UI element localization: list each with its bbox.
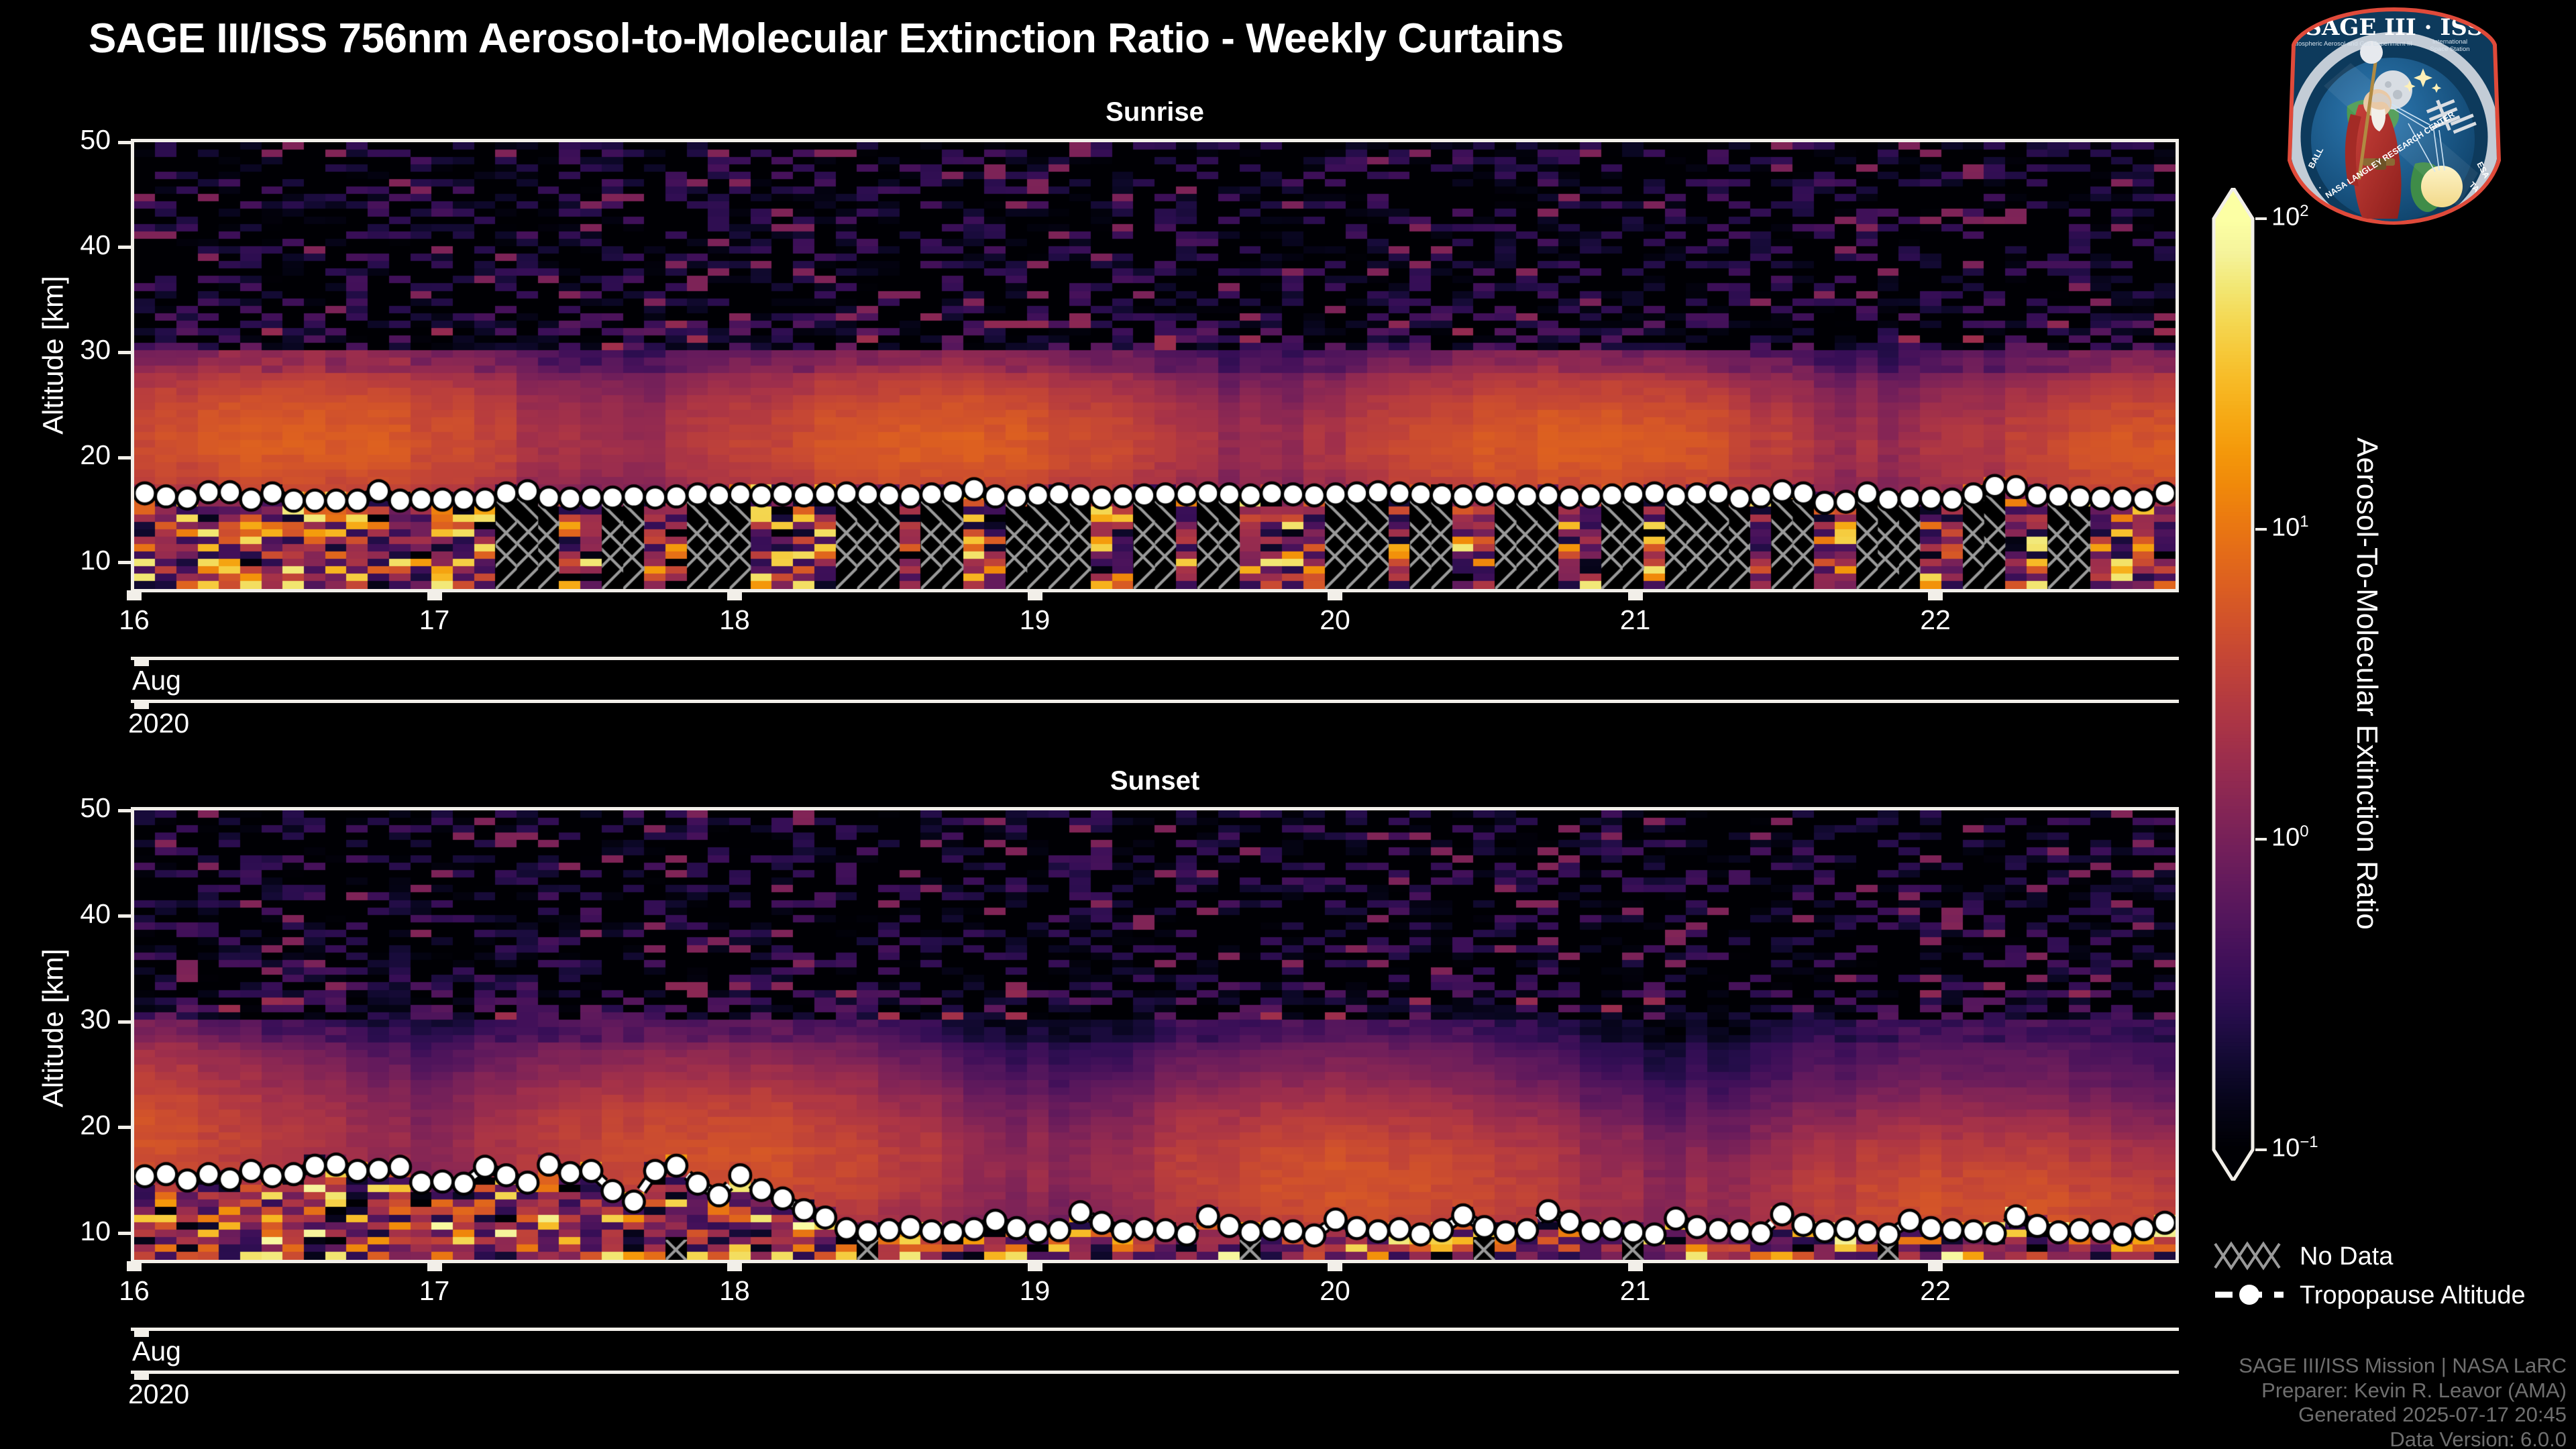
- x-tick-label-sunset-18: 18: [688, 1275, 782, 1307]
- x-tick-mark-sunrise-16: [127, 590, 142, 600]
- dashed-line-circle-icon: [2214, 1279, 2288, 1311]
- y-tick-label-sunrise-10: 10: [23, 545, 111, 576]
- y-tick-mark-sunrise-10: [118, 561, 131, 564]
- colorbar-gradient: [2207, 188, 2288, 1181]
- svg-text:International: International: [2432, 38, 2467, 46]
- panel-title-sunrise: Sunrise: [131, 97, 2179, 127]
- date-level-label-month-sunrise: Aug: [132, 665, 181, 696]
- x-tick-mark-sunset-18: [727, 1261, 742, 1271]
- x-tick-label-sunrise-21: 21: [1589, 604, 1682, 636]
- date-rail-month-sunrise: [131, 657, 2179, 660]
- footer-credits: SAGE III/ISS Mission | NASA LaRC Prepare…: [2239, 1354, 2567, 1449]
- x-tick-mark-sunset-21: [1628, 1261, 1643, 1271]
- page-title: SAGE III/ISS 756nm Aerosol-to-Molecular …: [89, 15, 1564, 62]
- y-tick-mark-sunrise-50: [118, 141, 131, 144]
- y-tick-mark-sunset-20: [118, 1126, 131, 1129]
- colorbar-tick-mark-10e2: [2255, 217, 2267, 220]
- y-tick-label-sunrise-20: 20: [23, 439, 111, 471]
- date-rail-year-sunset: [131, 1371, 2179, 1374]
- heatmap-sunrise[interactable]: [131, 139, 2179, 592]
- footer-line-2: Preparer: Kevin R. Leavor (AMA): [2239, 1379, 2567, 1403]
- x-tick-mark-sunset-20: [1328, 1261, 1342, 1271]
- legend-label-tropopause: Tropopause Altitude: [2300, 1281, 2526, 1310]
- panel-title-sunset: Sunset: [131, 766, 2179, 796]
- x-tick-mark-sunrise-21: [1628, 590, 1643, 600]
- date-level-label-year-sunrise: 2020: [128, 708, 189, 739]
- legend-label-no-data: No Data: [2300, 1242, 2393, 1271]
- date-rail-year-sunrise: [131, 700, 2179, 703]
- colorbar-tick-mark-10e1: [2255, 528, 2267, 531]
- y-tick-mark-sunrise-20: [118, 456, 131, 460]
- y-tick-mark-sunrise-40: [118, 246, 131, 249]
- date-level-label-month-sunset: Aug: [132, 1336, 181, 1367]
- x-tick-label-sunrise-19: 19: [988, 604, 1082, 636]
- x-tick-label-sunset-22: 22: [1888, 1275, 1982, 1307]
- colorbar-tick-label-10e-1: 10−1: [2271, 1133, 2318, 1163]
- colorbar-label: Aerosol-To-Molecular Extinction Ratio: [2350, 248, 2383, 1120]
- y-tick-label-sunset-10: 10: [23, 1216, 111, 1247]
- x-tick-mark-sunrise-22: [1928, 590, 1943, 600]
- x-tick-label-sunset-19: 19: [988, 1275, 1082, 1307]
- x-tick-mark-sunrise-17: [427, 590, 442, 600]
- footer-line-3: Generated 2025-07-17 20:45: [2239, 1403, 2567, 1428]
- y-tick-label-sunset-20: 20: [23, 1110, 111, 1141]
- date-rail-month-sunset: [131, 1328, 2179, 1331]
- y-tick-mark-sunrise-30: [118, 351, 131, 354]
- y-tick-label-sunrise-40: 40: [23, 229, 111, 261]
- colorbar-tick-label-10e0: 100: [2271, 822, 2309, 853]
- y-tick-label-sunrise-50: 50: [23, 124, 111, 156]
- svg-text:Stratospheric Aerosol and Gas: Stratospheric Aerosol and Gas Experiment…: [2285, 40, 2412, 48]
- y-tick-label-sunset-50: 50: [23, 792, 111, 824]
- colorbar-tick-mark-10e-1: [2255, 1148, 2267, 1151]
- y-tick-label-sunrise-30: 30: [23, 334, 111, 366]
- x-tick-label-sunset-17: 17: [388, 1275, 482, 1307]
- y-tick-mark-sunset-50: [118, 809, 131, 812]
- x-tick-mark-sunset-19: [1028, 1261, 1042, 1271]
- footer-line-4: Data Version: 6.0.0: [2239, 1428, 2567, 1449]
- hatch-cross-icon: [2214, 1240, 2288, 1272]
- x-tick-mark-sunrise-20: [1328, 590, 1342, 600]
- x-tick-label-sunrise-22: 22: [1888, 604, 1982, 636]
- y-tick-mark-sunset-40: [118, 914, 131, 918]
- x-tick-mark-sunrise-19: [1028, 590, 1042, 600]
- colorbar-tick-label-10e1: 101: [2271, 513, 2309, 543]
- x-tick-mark-sunset-22: [1928, 1261, 1943, 1271]
- x-tick-label-sunset-20: 20: [1288, 1275, 1382, 1307]
- footer-line-1: SAGE III/ISS Mission | NASA LaRC: [2239, 1354, 2567, 1379]
- x-tick-mark-sunset-17: [427, 1261, 442, 1271]
- x-tick-label-sunrise-20: 20: [1288, 604, 1382, 636]
- x-tick-label-sunrise-18: 18: [688, 604, 782, 636]
- colorbar-tick-mark-10e0: [2255, 838, 2267, 841]
- x-tick-label-sunset-16: 16: [87, 1275, 181, 1307]
- y-tick-label-sunset-30: 30: [23, 1004, 111, 1035]
- y-tick-mark-sunset-10: [118, 1232, 131, 1235]
- sage-iii-iss-mission-patch-logo: SAGE III · ISS Stratospheric Aerosol and…: [2284, 5, 2505, 227]
- colorbar-tick-label-10e2: 102: [2271, 202, 2309, 232]
- x-tick-mark-sunset-16: [127, 1261, 142, 1271]
- x-tick-mark-sunrise-18: [727, 590, 742, 600]
- svg-text:Space Station: Space Station: [2430, 46, 2469, 53]
- colorbar[interactable]: Aerosol-To-Molecular Extinction Ratio: [2207, 188, 2288, 1183]
- y-tick-mark-sunset-30: [118, 1020, 131, 1024]
- x-tick-label-sunset-21: 21: [1589, 1275, 1682, 1307]
- y-tick-label-sunset-40: 40: [23, 898, 111, 930]
- x-tick-label-sunrise-17: 17: [388, 604, 482, 636]
- x-tick-label-sunrise-16: 16: [87, 604, 181, 636]
- date-level-label-year-sunset: 2020: [128, 1379, 189, 1410]
- heatmap-sunset[interactable]: [131, 807, 2179, 1263]
